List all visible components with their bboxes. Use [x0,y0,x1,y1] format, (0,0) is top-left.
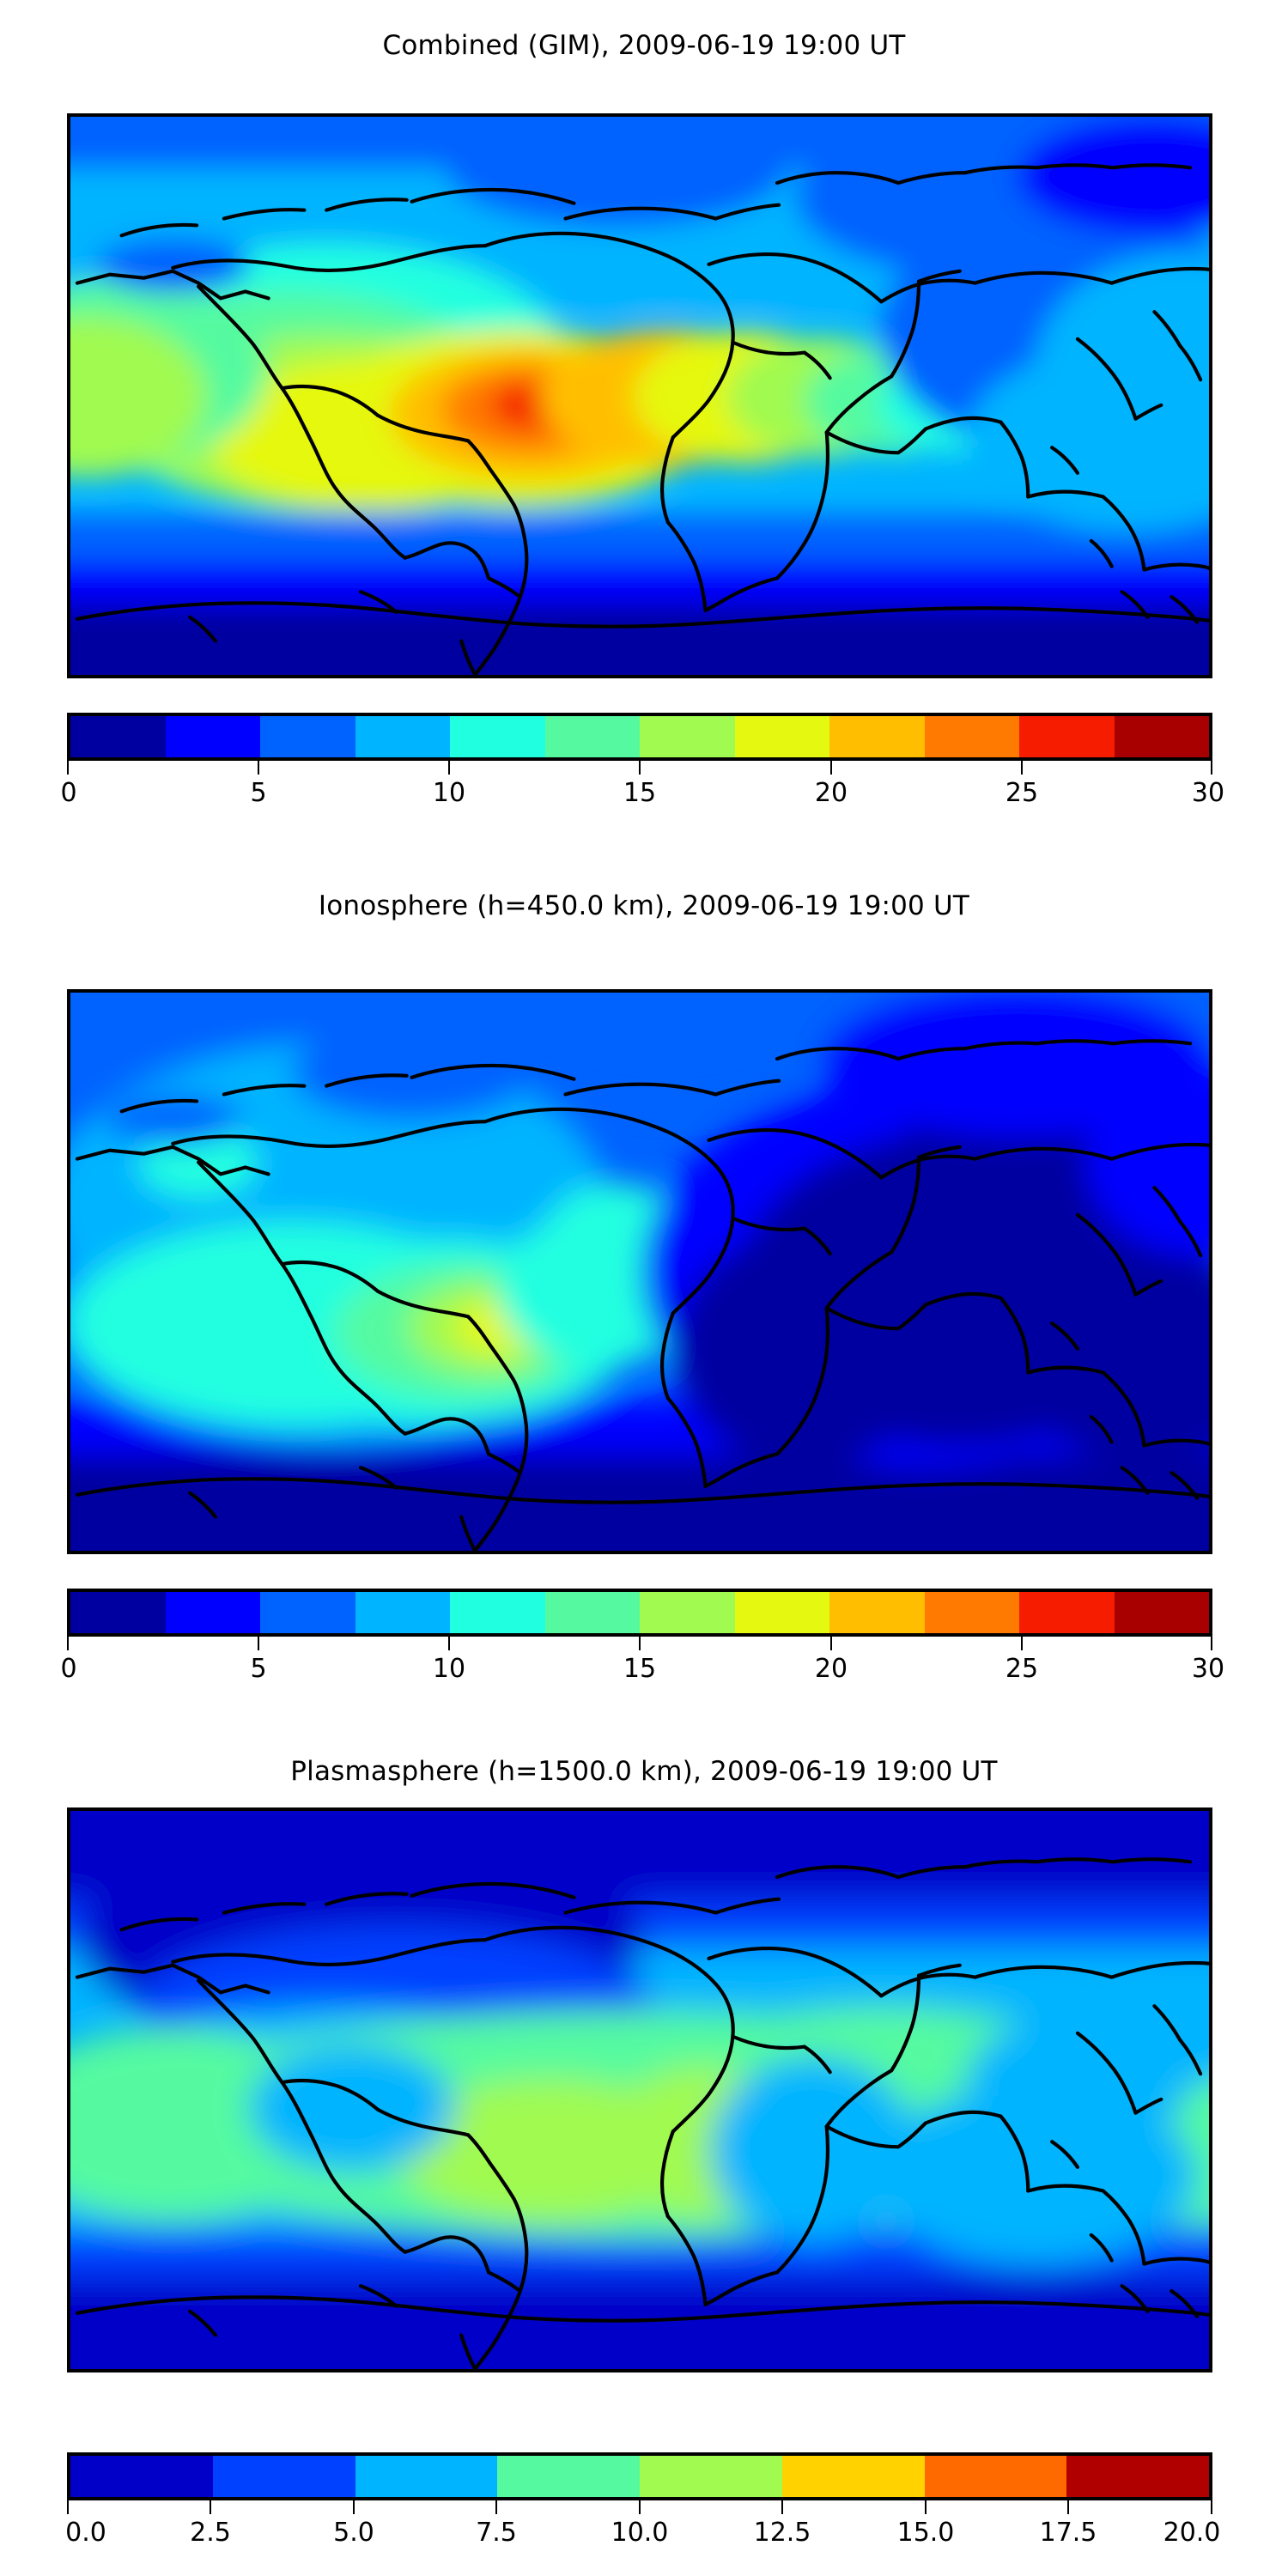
cbar1-band-7 [735,716,830,757]
cbar2-band-5 [545,1592,641,1633]
cbar1-band-3 [355,716,451,757]
cbar1-band-9 [925,716,1020,757]
colorbar-combined-labels: 0 5 10 15 20 25 30 [67,775,1212,812]
cbar3-band-0 [70,2456,213,2497]
cbar3-band-1 [213,2456,355,2497]
map-canvas-plasmasphere [70,1811,1209,2369]
cbar2-band-6 [640,1592,735,1633]
cbar2-tick-6: 30 [1192,1654,1224,1684]
cbar3-band-6 [925,2456,1067,2497]
cbar2-tick-4: 20 [815,1654,848,1684]
colorbar-combined: 0 5 10 15 20 25 30 [67,713,1212,812]
cbar1-band-6 [640,716,735,757]
cbar1-band-5 [545,716,641,757]
colorbar-plasmasphere-bands [67,2452,1212,2500]
cbar2-band-0 [70,1592,166,1633]
cbar2-band-9 [925,1592,1020,1633]
cbar2-tick-0: 0 [60,1654,76,1684]
cbar3-band-4 [640,2456,782,2497]
cbar3-tick-6: 15.0 [897,2518,955,2548]
panel-title-ionosphere: Ionosphere (h=450.0 km), 2009-06-19 19:0… [0,893,1288,920]
map-plasmasphere [67,1807,1212,2372]
cbar1-band-11 [1115,716,1210,757]
panel-plasmasphere: Plasmasphere (h=1500.0 km), 2009-06-19 1… [0,1759,1288,1785]
colorbar-ionosphere-ticks [67,1637,1212,1650]
cbar3-tick-5: 12.5 [754,2518,811,2548]
map-canvas-ionosphere [70,993,1209,1551]
cbar2-band-3 [355,1592,451,1633]
cbar2-band-7 [735,1592,830,1633]
cbar1-tick-4: 20 [815,778,848,808]
cbar1-band-8 [829,716,925,757]
map-canvas-combined [70,117,1209,675]
cbar3-tick-8: 20.0 [1163,2518,1221,2548]
cbar2-band-10 [1019,1592,1115,1633]
cbar2-band-11 [1115,1592,1210,1633]
cbar2-tick-1: 5 [250,1654,266,1684]
cbar1-tick-1: 5 [250,778,266,808]
colorbar-plasmasphere-ticks [67,2500,1212,2514]
cbar1-tick-5: 25 [1005,778,1038,808]
colorbar-ionosphere-labels: 0 5 10 15 20 25 30 [67,1650,1212,1688]
cbar1-band-10 [1019,716,1115,757]
colorbar-ionosphere-bands [67,1589,1212,1637]
cbar1-band-1 [166,716,261,757]
colorbar-plasmasphere: 0.0 2.5 5.0 7.5 10.0 12.5 15.0 17.5 20.0 [67,2452,1212,2552]
cbar1-band-4 [450,716,545,757]
cbar1-tick-3: 15 [623,778,656,808]
cbar2-band-4 [450,1592,545,1633]
map-ionosphere [67,989,1212,1554]
cbar2-band-8 [829,1592,925,1633]
cbar1-tick-6: 30 [1192,778,1224,808]
colorbar-ionosphere: 0 5 10 15 20 25 30 [67,1589,1212,1688]
cbar3-band-5 [782,2456,925,2497]
cbar1-tick-2: 10 [433,778,465,808]
panel-combined-gim: Combined (GIM), 2009-06-19 19:00 UT [0,33,1288,59]
cbar2-band-2 [260,1592,355,1633]
cbar3-band-2 [355,2456,498,2497]
colorbar-combined-ticks [67,761,1212,775]
panel-ionosphere: Ionosphere (h=450.0 km), 2009-06-19 19:0… [0,893,1288,920]
cbar3-tick-4: 10.0 [611,2518,669,2548]
colorbar-plasmasphere-labels: 0.0 2.5 5.0 7.5 10.0 12.5 15.0 17.5 20.0 [67,2514,1212,2552]
cbar3-tick-3: 7.5 [476,2518,517,2548]
cbar1-band-2 [260,716,355,757]
cbar2-band-1 [166,1592,261,1633]
cbar3-tick-7: 17.5 [1040,2518,1097,2548]
cbar2-tick-5: 25 [1005,1654,1038,1684]
cbar2-tick-3: 15 [623,1654,656,1684]
cbar3-tick-2: 5.0 [333,2518,374,2548]
tec-map-figure: Combined (GIM), 2009-06-19 19:00 UT [0,0,1288,2576]
panel-title-plasmasphere: Plasmasphere (h=1500.0 km), 2009-06-19 1… [0,1759,1288,1785]
cbar1-band-0 [70,716,166,757]
cbar3-band-7 [1066,2456,1209,2497]
cbar3-band-3 [497,2456,640,2497]
cbar3-tick-1: 2.5 [190,2518,231,2548]
cbar1-tick-0: 0 [60,778,76,808]
map-combined-gim [67,113,1212,678]
panel-title-combined: Combined (GIM), 2009-06-19 19:00 UT [0,33,1288,59]
colorbar-combined-bands [67,713,1212,761]
cbar2-tick-2: 10 [433,1654,465,1684]
cbar3-tick-0: 0.0 [65,2518,106,2548]
